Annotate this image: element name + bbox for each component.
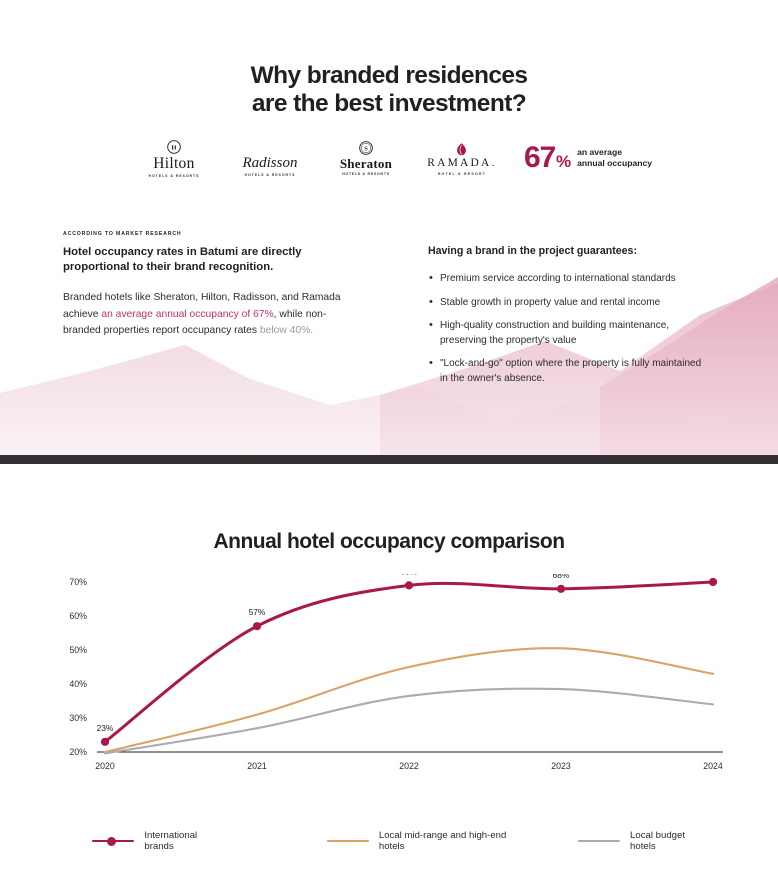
brand-logo-row: H Hilton HOTELS & RESORTS Radisson HOTEL… bbox=[0, 132, 778, 184]
chart-data-point[interactable] bbox=[405, 581, 413, 589]
y-axis-tick-label: 50% bbox=[69, 645, 87, 655]
lead-statement: Hotel occupancy rates in Batumi are dire… bbox=[63, 245, 353, 275]
chart-point-label: 68% bbox=[553, 574, 570, 580]
body-highlight-below-forty: below 40%. bbox=[260, 325, 313, 336]
list-item: "Lock-and-go" option where the property … bbox=[428, 357, 708, 386]
list-item: High-quality construction and building m… bbox=[428, 319, 708, 348]
sheraton-crest-icon: S bbox=[359, 140, 373, 157]
hilton-crest-icon: H bbox=[167, 139, 181, 156]
chart-point-label: 23% bbox=[97, 723, 114, 733]
chart-data-point[interactable] bbox=[253, 622, 261, 630]
ramada-wordmark: RAMADA. bbox=[427, 158, 496, 170]
chart-title: Annual hotel occupancy comparison bbox=[0, 530, 778, 554]
legend-swatch-crimson bbox=[92, 835, 133, 847]
line-chart-svg: 20%30%40%50%60%70%2020202120222023202423… bbox=[0, 574, 778, 804]
ramada-flame-icon bbox=[454, 141, 469, 158]
legend-swatch-gray bbox=[578, 835, 619, 847]
hilton-wordmark: Hilton bbox=[153, 156, 194, 172]
ramada-tagline: HOTEL & RESORT bbox=[438, 172, 486, 176]
right-text-column: Having a brand in the project guarantees… bbox=[428, 244, 708, 395]
chart-line-series-2 bbox=[105, 689, 713, 754]
y-axis-tick-label: 60% bbox=[69, 611, 87, 621]
chart-section: Annual hotel occupancy comparison 20%30%… bbox=[0, 464, 778, 873]
radisson-wordmark: Radisson bbox=[242, 156, 297, 171]
legend-label: Local budget hotels bbox=[630, 830, 712, 852]
sheraton-wordmark: Sheraton bbox=[340, 157, 392, 170]
chart-data-point[interactable] bbox=[709, 578, 717, 586]
brand-logo-hilton: H Hilton HOTELS & RESORTS bbox=[126, 132, 222, 184]
guarantees-list: Premium service according to internation… bbox=[428, 272, 708, 386]
y-axis-tick-label: 40% bbox=[69, 679, 87, 689]
legend-label: Local mid-range and high-end hotels bbox=[379, 830, 532, 852]
legend-label: International brands bbox=[144, 830, 228, 852]
left-text-column: ACCORDING TO MARKET RESEARCH Hotel occup… bbox=[63, 231, 353, 350]
section-divider bbox=[0, 455, 778, 464]
stat-caption: an average annual occupancy bbox=[577, 147, 652, 169]
x-axis-tick-label: 2023 bbox=[551, 761, 571, 771]
stat-caption-line-1: an average bbox=[577, 147, 622, 157]
brand-logo-sheraton: S Sheraton HOTELS & RESORTS bbox=[318, 132, 414, 184]
svg-text:H: H bbox=[171, 145, 177, 152]
x-axis-tick-label: 2021 bbox=[247, 761, 267, 771]
list-item: Premium service according to internation… bbox=[428, 272, 708, 287]
y-axis-tick-label: 70% bbox=[69, 577, 87, 587]
svg-text:S: S bbox=[364, 146, 368, 153]
body-paragraph: Branded hotels like Sheraton, Hilton, Ra… bbox=[63, 290, 353, 340]
stat-number: 67 bbox=[524, 143, 555, 173]
stat-caption-line-2: annual occupancy bbox=[577, 158, 652, 168]
legend-item-local-budget[interactable]: Local budget hotels bbox=[578, 830, 712, 852]
guarantees-heading: Having a brand in the project guarantees… bbox=[428, 244, 708, 258]
y-axis-tick-label: 30% bbox=[69, 713, 87, 723]
body-highlight-occupancy: an average annual occupancy of 67% bbox=[101, 309, 273, 320]
brand-logo-ramada: RAMADA. HOTEL & RESORT bbox=[414, 132, 510, 184]
hilton-tagline: HOTELS & RESORTS bbox=[148, 174, 199, 178]
x-axis-tick-label: 2022 bbox=[399, 761, 419, 771]
x-axis-tick-label: 2024 bbox=[703, 761, 723, 771]
brand-logo-radisson: Radisson HOTELS & RESORTS bbox=[222, 132, 318, 184]
chart-point-label: 69% bbox=[401, 574, 418, 576]
legend-item-international-brands[interactable]: International brands bbox=[92, 830, 228, 852]
legend-swatch-gold bbox=[327, 835, 368, 847]
sheraton-tagline: HOTELS & RESORTS bbox=[342, 172, 390, 176]
headline-line-2: are the best investment? bbox=[0, 90, 778, 118]
chart-plot-area: 20%30%40%50%60%70%2020202120222023202423… bbox=[0, 574, 778, 804]
page-headline: Why branded residences are the best inve… bbox=[0, 62, 778, 119]
headline-line-1: Why branded residences bbox=[0, 62, 778, 90]
legend-item-local-midrange[interactable]: Local mid-range and high-end hotels bbox=[327, 830, 533, 852]
x-axis-tick-label: 2020 bbox=[95, 761, 115, 771]
chart-data-point[interactable] bbox=[557, 585, 565, 593]
chart-data-point[interactable] bbox=[101, 738, 109, 746]
chart-legend: International brands Local mid-range and… bbox=[92, 830, 712, 852]
chart-line-series-1 bbox=[105, 648, 713, 752]
chart-line-series-0 bbox=[105, 582, 713, 742]
top-section: Why branded residences are the best inve… bbox=[0, 0, 778, 455]
radisson-flourish-icon bbox=[269, 139, 271, 156]
chart-point-label: 57% bbox=[249, 607, 266, 617]
radisson-tagline: HOTELS & RESORTS bbox=[244, 173, 295, 177]
eyebrow-label: ACCORDING TO MARKET RESEARCH bbox=[63, 231, 353, 237]
y-axis-tick-label: 20% bbox=[69, 747, 87, 757]
list-item: Stable growth in property value and rent… bbox=[428, 296, 708, 311]
occupancy-stat: 67 % an average annual occupancy bbox=[524, 143, 652, 173]
stat-percent-sign: % bbox=[556, 152, 571, 172]
